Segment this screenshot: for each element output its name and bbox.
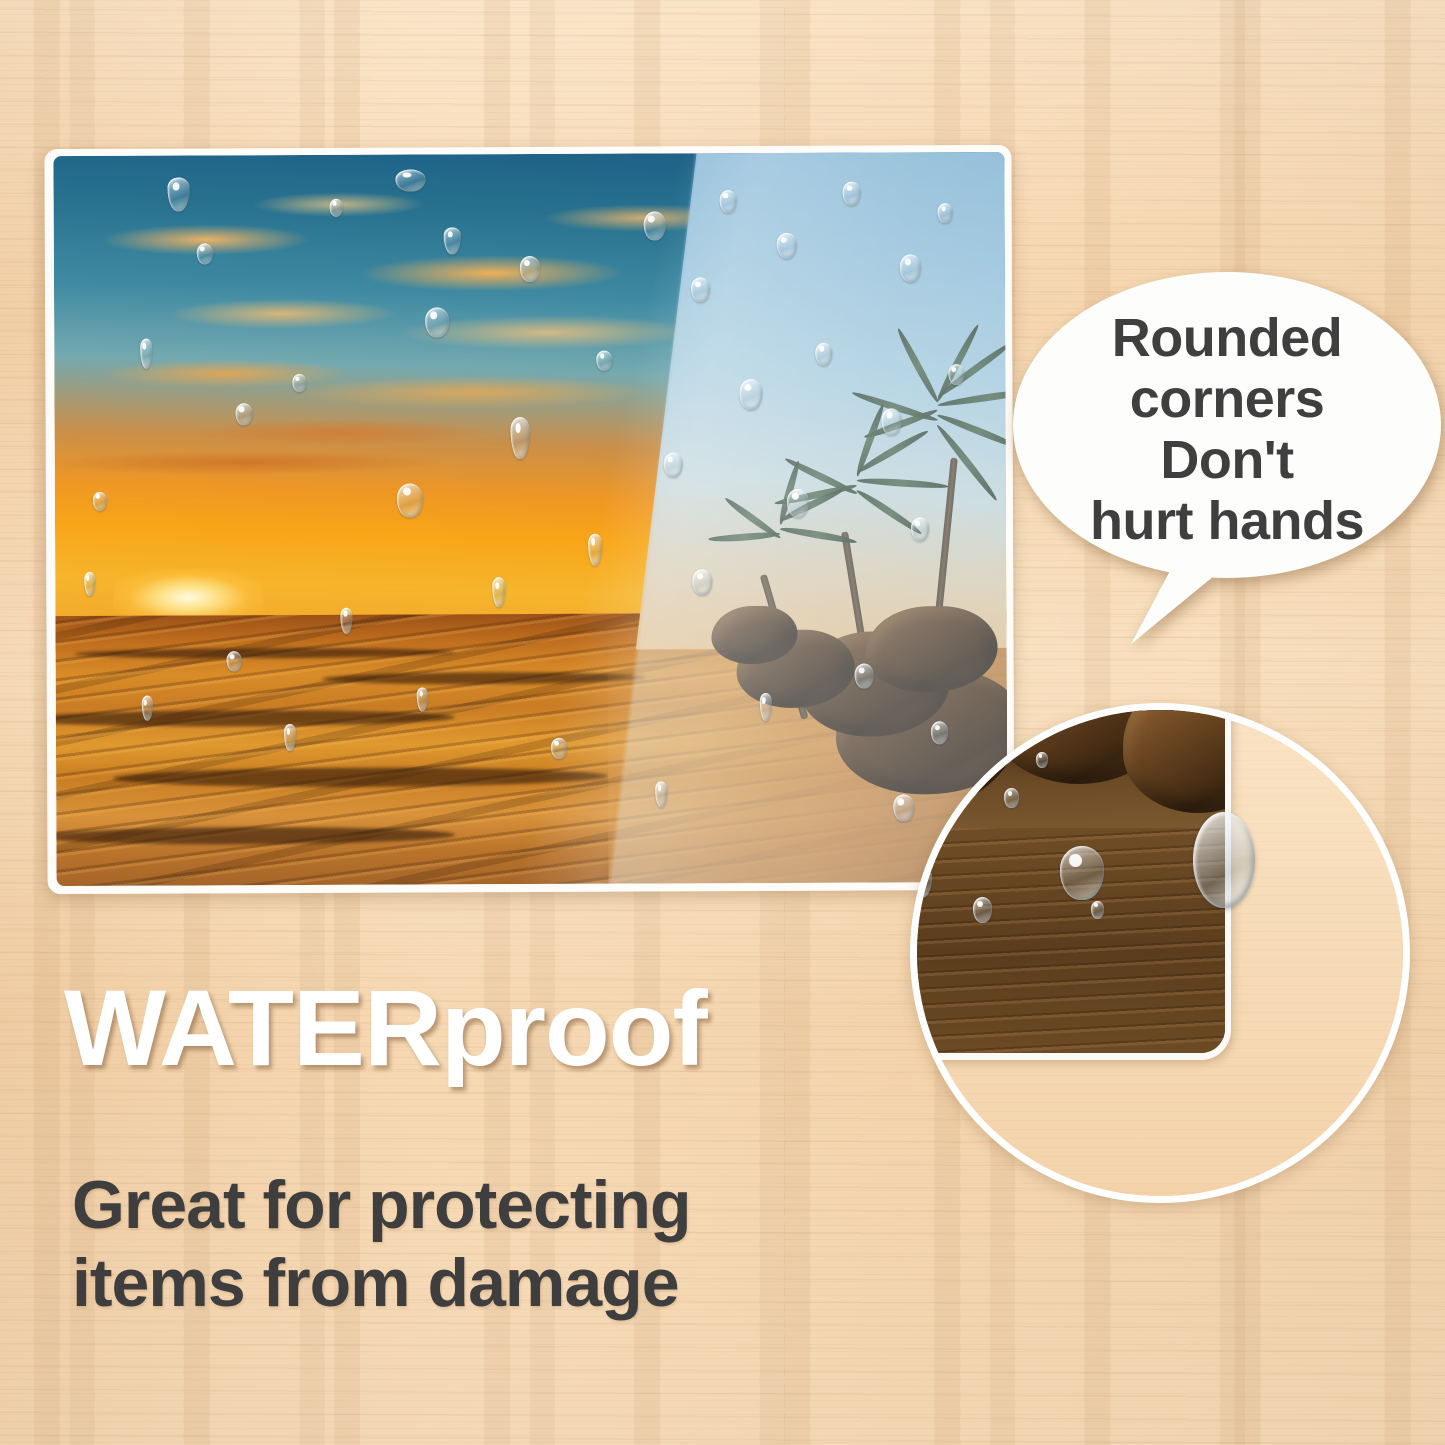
headline-part-two: proof [441, 970, 707, 1088]
water-droplet [1004, 788, 1019, 808]
subheadline-text: Great for protecting items from damage [72, 1167, 892, 1322]
magnified-photo-area [910, 703, 1225, 1053]
speech-bubble-text: Rounded corners Don't hurt hands [1013, 308, 1441, 552]
magnified-rock [1123, 703, 1225, 813]
palm-frond [855, 487, 924, 536]
magnified-print-corner [910, 703, 1231, 1060]
waterproof-photo-print [44, 145, 1014, 894]
palm-frond [936, 411, 1007, 450]
headline-waterproof: WATERproof [64, 965, 707, 1090]
edge-water-droplet [1193, 812, 1255, 908]
beach-sunset-photo [53, 152, 1007, 886]
zoom-detail-circle [910, 703, 1410, 1203]
headline-part-one: WATER [64, 967, 441, 1088]
product-marketing-image: Rounded corners Don't hurt hands WATERpr [0, 0, 1445, 1445]
magnified-wet-sand [910, 828, 1225, 1053]
callout-speech-bubble: Rounded corners Don't hurt hands [1013, 272, 1441, 640]
